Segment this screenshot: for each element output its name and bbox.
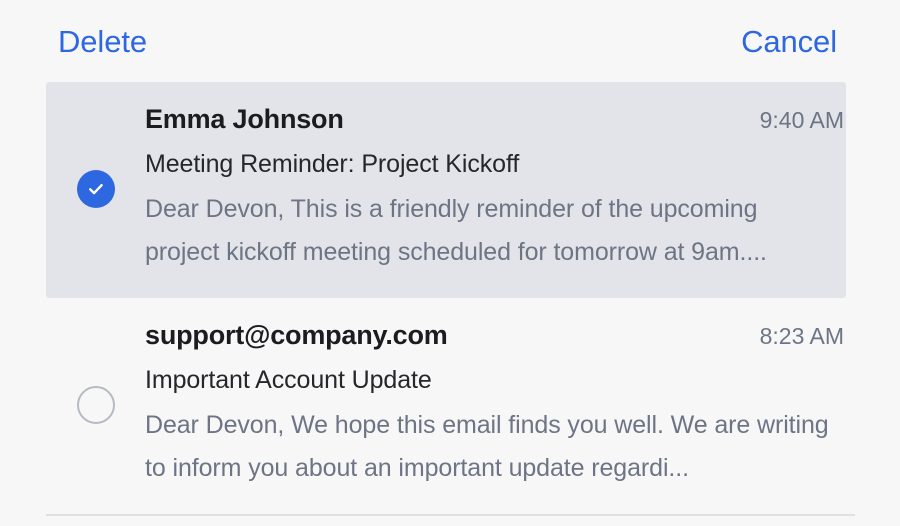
message-list-item[interactable]: support@company.com 8:23 AM Important Ac… — [46, 298, 846, 514]
message-preview: Dear Devon, This is a friendly reminder … — [145, 188, 833, 274]
delete-button[interactable]: Delete — [58, 26, 147, 57]
message-subject: Important Account Update — [145, 365, 844, 395]
message-list-item[interactable]: Emma Johnson 9:40 AM Meeting Reminder: P… — [46, 82, 846, 298]
message-content: support@company.com 8:23 AM Important Ac… — [145, 320, 846, 490]
message-sender: Emma Johnson — [145, 104, 344, 136]
message-subject: Meeting Reminder: Project Kickoff — [145, 149, 844, 179]
selection-action-bar: Delete Cancel — [0, 0, 900, 82]
message-timestamp: 9:40 AM — [760, 107, 844, 134]
circle-outline-icon[interactable] — [77, 386, 115, 424]
check-circle-filled-icon[interactable] — [77, 170, 115, 208]
message-list: Emma Johnson 9:40 AM Meeting Reminder: P… — [0, 82, 900, 516]
cancel-button[interactable]: Cancel — [741, 26, 837, 57]
message-header-line: Emma Johnson 9:40 AM — [145, 104, 844, 136]
message-timestamp: 8:23 AM — [760, 323, 844, 350]
message-select-cell — [46, 386, 145, 424]
message-content: Emma Johnson 9:40 AM Meeting Reminder: P… — [145, 104, 846, 274]
message-sender: support@company.com — [145, 320, 448, 352]
message-preview: Dear Devon, We hope this email finds you… — [145, 404, 833, 490]
message-select-cell — [46, 170, 145, 208]
list-divider — [46, 514, 855, 516]
message-header-line: support@company.com 8:23 AM — [145, 320, 844, 352]
